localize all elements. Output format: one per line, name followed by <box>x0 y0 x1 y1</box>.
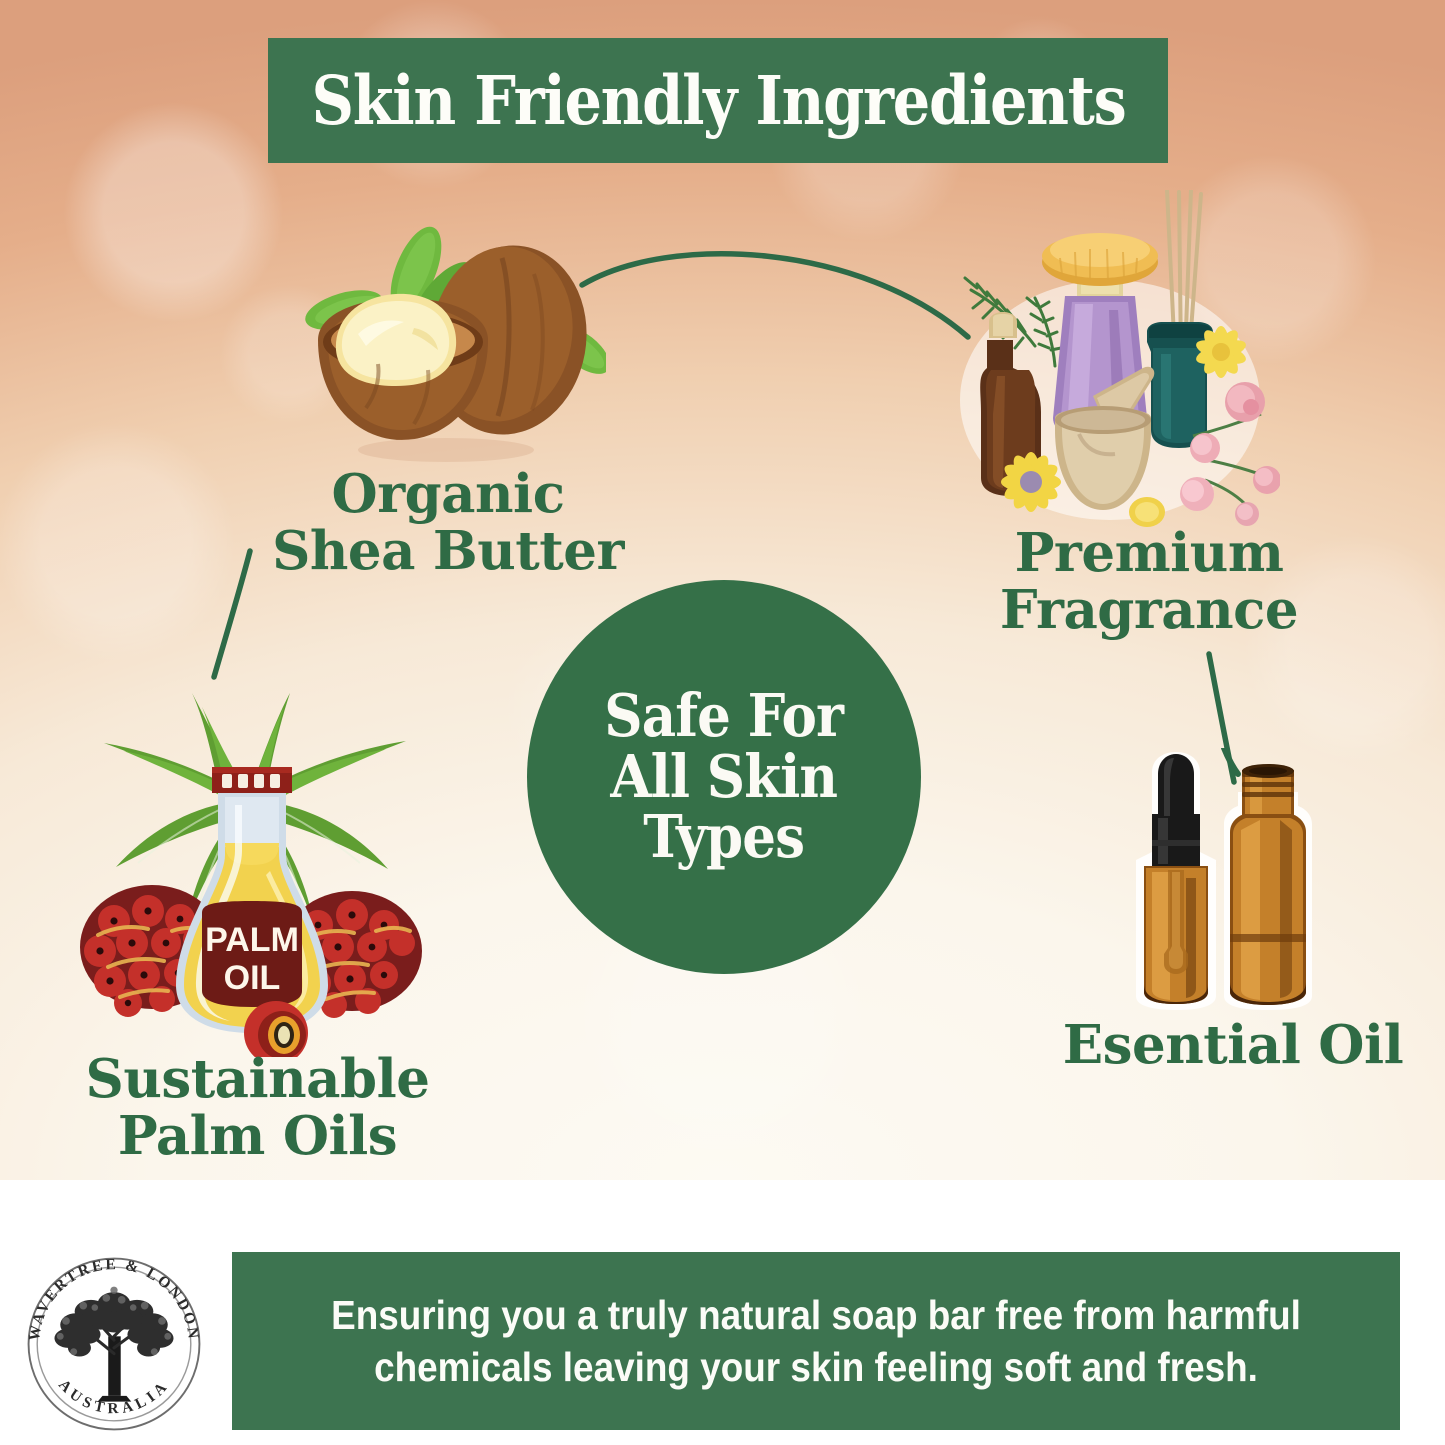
palm-oil-bottle-icon: PALM OIL <box>80 685 422 1057</box>
center-badge-line1: Safe For <box>605 686 844 747</box>
label-premium-fragrance: Premium Fragrance <box>984 525 1314 639</box>
center-badge-line2: All Skin <box>605 747 844 808</box>
palm-oil-bottle-label-line1: PALM <box>205 921 299 959</box>
shea-butter-nut-icon <box>296 222 606 474</box>
amber-dropper-bottles-icon <box>1128 748 1343 1013</box>
label-palm-line1: Sustainable <box>60 1051 455 1108</box>
footer-line1: Ensuring you a truly natural soap bar fr… <box>290 1289 1341 1341</box>
page-title: Skin Friendly Ingredients <box>311 67 1125 134</box>
label-fragrance-line1: Premium <box>984 525 1314 582</box>
wavertree-and-london-logo: WAVERTREE & LONDON AUSTRALIA <box>18 1248 210 1440</box>
center-badge-text: Safe For All Skin Types <box>605 686 844 868</box>
label-shea-line2: Shea Butter <box>268 523 628 580</box>
footer-text: Ensuring you a truly natural soap bar fr… <box>290 1289 1341 1394</box>
palm-oil-bottle-label-line2: OIL <box>224 959 281 997</box>
label-fragrance-line2: Fragrance <box>984 582 1314 639</box>
center-badge: Safe For All Skin Types <box>527 580 921 974</box>
label-esential-oil: Esential Oil <box>1048 1017 1418 1074</box>
label-essential-line1: Esential Oil <box>1048 1017 1418 1074</box>
label-palm-line2: Palm Oils <box>60 1108 455 1165</box>
title-banner: Skin Friendly Ingredients <box>268 38 1168 163</box>
label-shea-line1: Organic <box>268 466 628 523</box>
infographic-root: Skin Friendly Ingredients <box>0 0 1445 1445</box>
label-sustainable-palm-oils: Sustainable Palm Oils <box>60 1051 455 1165</box>
footer-line2: chemicals leaving your skin feeling soft… <box>290 1341 1341 1393</box>
footer-banner: Ensuring you a truly natural soap bar fr… <box>232 1252 1400 1430</box>
perfume-bottles-flowers-icon <box>935 190 1280 530</box>
label-organic-shea-butter: Organic Shea Butter <box>268 466 628 580</box>
center-badge-line3: Types <box>605 807 844 868</box>
